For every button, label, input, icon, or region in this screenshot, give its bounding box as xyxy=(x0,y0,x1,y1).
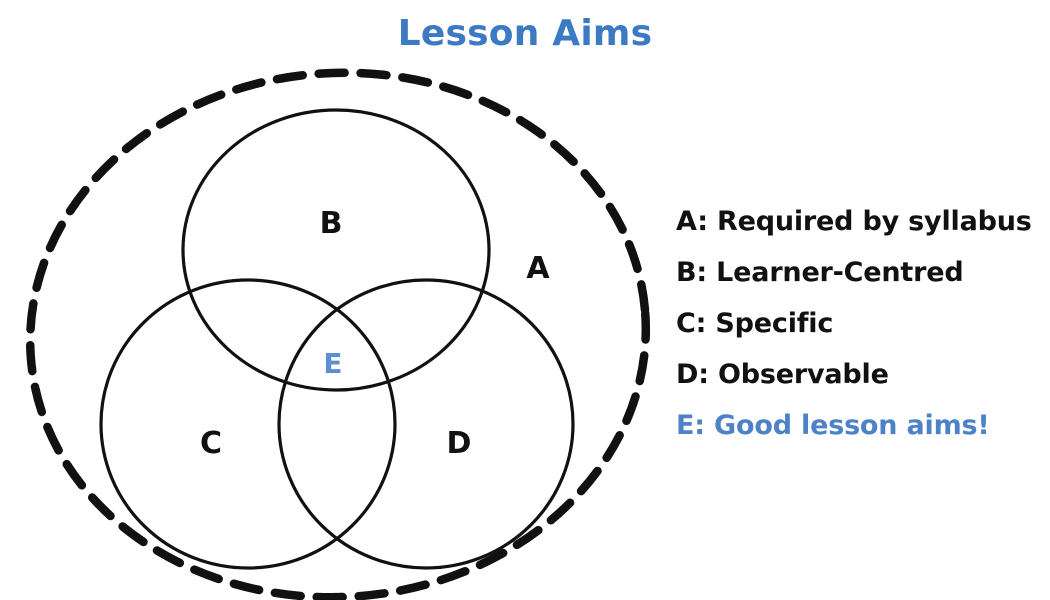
universal-set-boundary-a xyxy=(12,55,663,600)
venn-label-a: A xyxy=(526,251,550,286)
venn-label-e: E xyxy=(323,347,342,380)
venn-label-b: B xyxy=(320,206,343,241)
legend-item-a: A: Required by syllabus xyxy=(676,196,1046,247)
legend-item-d: D: Observable xyxy=(676,349,1046,400)
set-circle-d xyxy=(279,280,573,568)
legend-item-e: E: Good lesson aims! xyxy=(676,400,1046,451)
venn-diagram: A B C D E xyxy=(0,55,680,600)
slide-canvas: Lesson Aims A B C D E A: Required by syl… xyxy=(0,0,1050,600)
venn-diagram-svg: A B C D E xyxy=(0,55,680,600)
set-circle-c xyxy=(101,280,395,568)
legend-item-c: C: Specific xyxy=(676,298,1046,349)
venn-label-d: D xyxy=(447,426,472,461)
venn-label-c: C xyxy=(200,426,222,461)
page-title: Lesson Aims xyxy=(0,13,1050,54)
legend: A: Required by syllabus B: Learner-Centr… xyxy=(676,196,1046,451)
legend-item-b: B: Learner-Centred xyxy=(676,247,1046,298)
